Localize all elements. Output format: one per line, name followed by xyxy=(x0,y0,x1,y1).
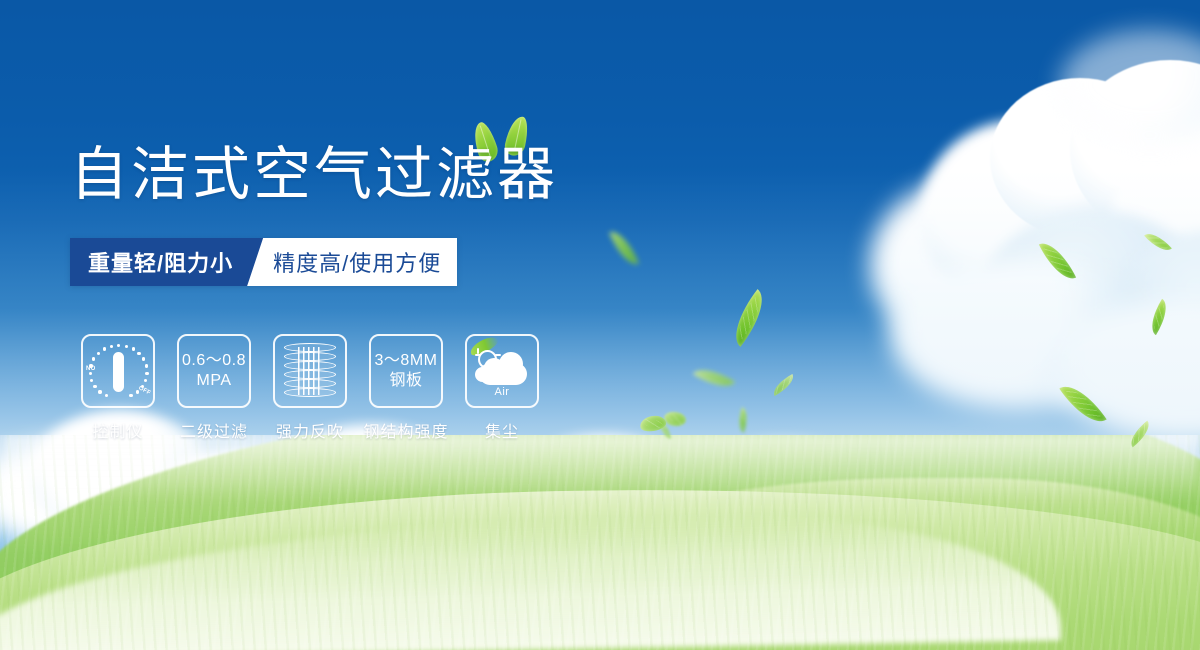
feature-list: NO OFF 控制仪 0.6～0.8 MPA 二级过滤 xyxy=(70,334,550,442)
feature-caption: 二级过滤 xyxy=(180,418,248,442)
hero-banner: 自洁式空气过滤器 重量轻/阻力小 精度高/使用方便 xyxy=(0,0,1200,650)
floating-leaf xyxy=(1059,376,1106,431)
feature-icon-box[interactable] xyxy=(273,334,347,408)
floating-leaf xyxy=(663,411,687,428)
pressure-line-1: 0.6～0.8 xyxy=(182,351,246,371)
gauge-label-no: NO xyxy=(86,366,96,372)
floating-leaf xyxy=(735,407,752,433)
cloud-cumulus-right xyxy=(860,60,1200,390)
feature-item-dust[interactable]: Air 集尘 xyxy=(454,334,550,442)
subtitle-bar: 重量轻/阻力小 精度高/使用方便 xyxy=(70,238,457,286)
steel-line-1: 3～8MM xyxy=(375,351,438,371)
feature-icon-box[interactable]: 3～8MM 钢板 xyxy=(369,334,443,408)
feature-icon-box[interactable]: 0.6～0.8 MPA xyxy=(177,334,251,408)
gauge-label-off: OFF xyxy=(137,385,151,396)
feature-item-steel[interactable]: 3～8MM 钢板 钢结构强度 xyxy=(358,334,454,442)
feature-caption: 钢结构强度 xyxy=(363,418,448,442)
gauge-icon: NO OFF xyxy=(87,340,149,402)
gauge-needle xyxy=(113,352,124,392)
feature-icon-box[interactable]: NO OFF xyxy=(81,334,155,408)
cloud-body xyxy=(479,363,527,385)
pressure-text-icon: 0.6～0.8 MPA xyxy=(182,351,246,391)
floating-leaf xyxy=(693,361,735,396)
feature-item-blowback[interactable]: 强力反吹 xyxy=(262,334,358,442)
filter-cartridge-icon xyxy=(284,343,336,399)
cloud-air-label: Air xyxy=(473,386,531,398)
floating-leaf xyxy=(769,374,797,396)
subtitle-left: 重量轻/阻力小 xyxy=(70,238,263,286)
floating-leaf xyxy=(1039,236,1076,286)
pressure-line-2: MPA xyxy=(182,371,246,391)
feature-item-controller[interactable]: NO OFF 控制仪 xyxy=(70,334,166,442)
floating-leaf xyxy=(609,226,639,269)
feature-caption: 控制仪 xyxy=(92,418,143,442)
feature-caption: 强力反吹 xyxy=(276,418,344,442)
steel-plate-text-icon: 3～8MM 钢板 xyxy=(375,351,438,391)
floating-leaf xyxy=(723,289,775,347)
feature-icon-box[interactable]: Air xyxy=(465,334,539,408)
feature-item-pressure[interactable]: 0.6～0.8 MPA 二级过滤 xyxy=(166,334,262,442)
cloud-wisp-upper-right xyxy=(1040,20,1200,140)
steel-line-2: 钢板 xyxy=(375,371,438,391)
subtitle-right: 精度高/使用方便 xyxy=(247,238,457,286)
floating-leaf xyxy=(1144,228,1172,257)
page-title: 自洁式空气过滤器 xyxy=(70,146,558,204)
feature-caption: 集尘 xyxy=(485,418,519,442)
floating-leaf xyxy=(1144,299,1174,335)
grass-field xyxy=(0,435,1200,650)
cloud-air-icon: Air xyxy=(473,348,531,394)
